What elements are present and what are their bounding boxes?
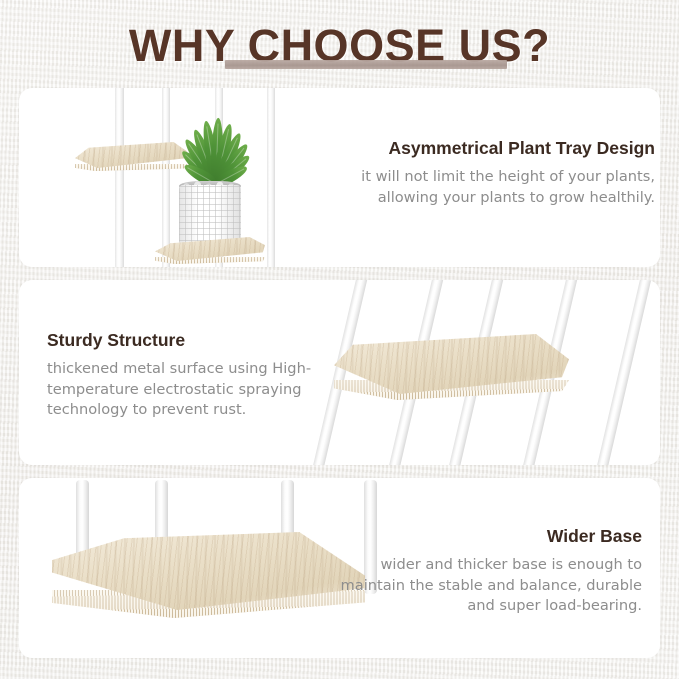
- page-title-container: WHY CHOOSE US?: [0, 22, 679, 69]
- page-title: WHY CHOOSE US?: [125, 22, 554, 69]
- feature-panel-sturdy-structure: Sturdy Structure thickened metal surface…: [19, 280, 660, 465]
- metal-pole: [162, 88, 170, 267]
- panel-3-body: wider and thicker base is enough to main…: [337, 555, 642, 617]
- panel-1-heading: Asymmetrical Plant Tray Design: [355, 138, 655, 160]
- metal-pole: [115, 88, 124, 267]
- panel-1-text-block: Asymmetrical Plant Tray Design it will n…: [355, 138, 655, 208]
- panel-2-heading: Sturdy Structure: [47, 330, 347, 352]
- panel-3-text-block: Wider Base wider and thicker base is eno…: [337, 526, 642, 617]
- panel-2-text-block: Sturdy Structure thickened metal surface…: [47, 330, 347, 421]
- feature-panel-wider-base: Wider Base wider and thicker base is eno…: [19, 478, 660, 658]
- metal-pole: [591, 280, 658, 465]
- potted-plant-foliage: [179, 122, 241, 184]
- ceramic-plant-pot: [179, 185, 241, 247]
- feature-panel-asymmetrical-plant-tray: Asymmetrical Plant Tray Design it will n…: [19, 88, 660, 267]
- panel-1-body: it will not limit the height of your pla…: [355, 167, 655, 208]
- title-underline-bar: [225, 60, 507, 69]
- panel-2-body: thickened metal surface using High-tempe…: [47, 359, 347, 421]
- infographic-page: WHY CHOOSE US?: [0, 0, 679, 679]
- panel-3-heading: Wider Base: [337, 526, 642, 548]
- metal-pole: [267, 88, 275, 267]
